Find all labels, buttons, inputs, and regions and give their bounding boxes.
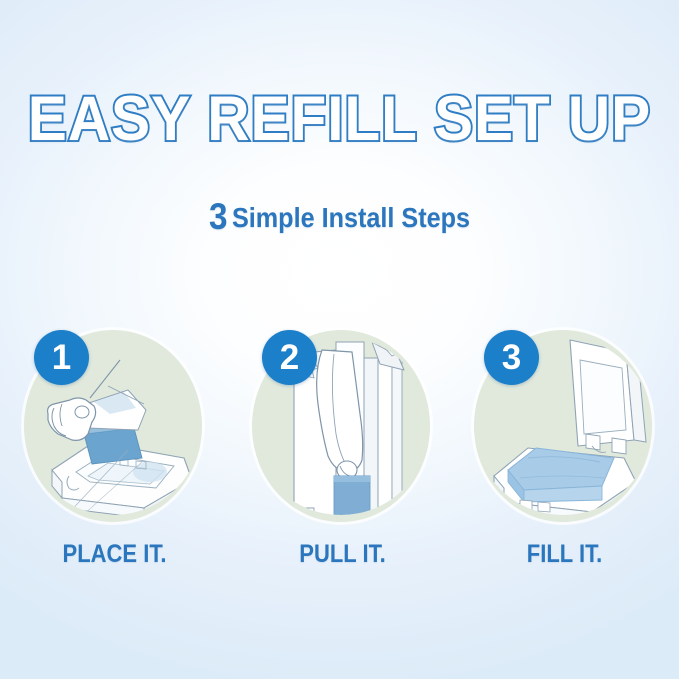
- page-title: EASY REFILL SET UP: [24, 88, 655, 151]
- step-2-number-badge: 2: [262, 330, 317, 385]
- step-3-caption: FILL IT.: [474, 540, 654, 569]
- page-subtitle: 3Simple Install Steps: [34, 198, 645, 235]
- step-3-illustration-wrap: 3: [474, 330, 652, 522]
- step-item-2: 2 PULL IT.: [240, 318, 445, 593]
- step-1-caption: PLACE IT.: [24, 540, 204, 569]
- infographic-poster: EASY REFILL SET UP 3Simple Install Steps: [0, 0, 679, 679]
- subtitle-text: Simple Install Steps: [232, 202, 470, 233]
- steps-row: 1 PLACE IT.: [0, 318, 679, 593]
- step-2-caption: PULL IT.: [252, 540, 432, 569]
- step-3-number-badge: 3: [484, 330, 539, 385]
- step-item-3: 3 FILL IT.: [462, 318, 667, 593]
- step-1-number-badge: 1: [34, 330, 89, 385]
- step-item-1: 1 PLACE IT.: [12, 318, 217, 593]
- subtitle-step-count: 3: [209, 196, 232, 237]
- step-1-illustration-wrap: 1: [24, 330, 202, 522]
- step-2-illustration-wrap: 2: [252, 330, 430, 522]
